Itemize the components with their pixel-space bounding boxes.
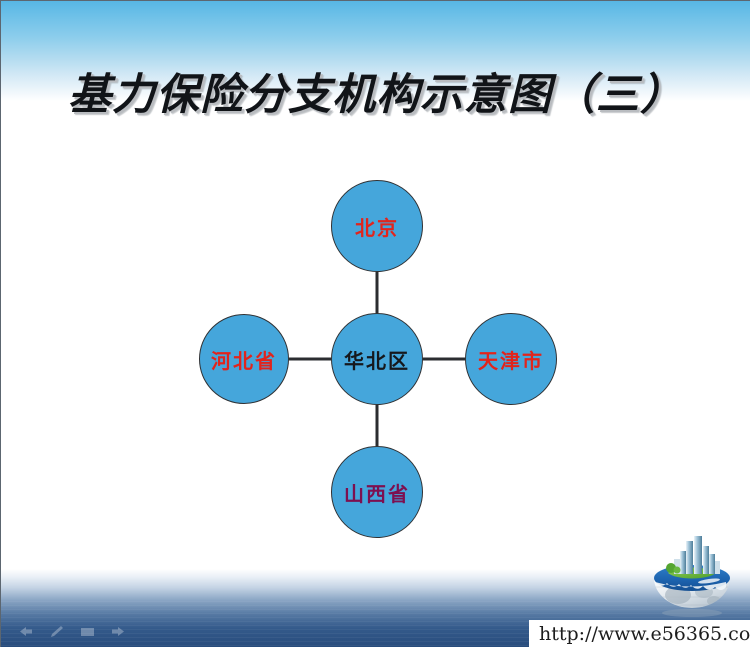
slideshow-nav-controls	[17, 624, 127, 639]
globe-shadow	[662, 609, 722, 617]
website-url-text[interactable]: http://www.e56365.com	[539, 623, 750, 645]
node-hebei[interactable]: 河北省	[199, 314, 289, 404]
pen-tool-icon[interactable]	[48, 624, 65, 639]
node-label-beijing: 北京	[355, 212, 399, 241]
previous-slide-icon[interactable]	[17, 624, 34, 639]
node-north-china-region[interactable]: 华北区	[331, 313, 423, 405]
presentation-slide: 基力保险分支机构示意图（三） 北京 河北省 华北区 天津市 山西省	[0, 0, 750, 647]
website-url-strip: http://www.e56365.com	[529, 620, 750, 647]
node-label-shanxi: 山西省	[344, 478, 410, 507]
node-beijing[interactable]: 北京	[331, 180, 423, 272]
globe-landmass-3	[707, 596, 721, 606]
menu-icon[interactable]	[79, 624, 96, 639]
globe-city-logo	[644, 529, 740, 625]
next-slide-icon[interactable]	[110, 624, 127, 639]
node-shanxi[interactable]: 山西省	[331, 446, 423, 538]
node-label-hebei: 河北省	[211, 345, 277, 374]
globe-tree-2	[674, 567, 681, 574]
node-label-north-china-region: 华北区	[344, 345, 410, 374]
org-diagram: 北京 河北省 华北区 天津市 山西省	[1, 1, 750, 647]
globe-city-skyline	[674, 536, 720, 574]
node-tianjin[interactable]: 天津市	[465, 313, 557, 405]
node-label-tianjin: 天津市	[478, 345, 544, 374]
